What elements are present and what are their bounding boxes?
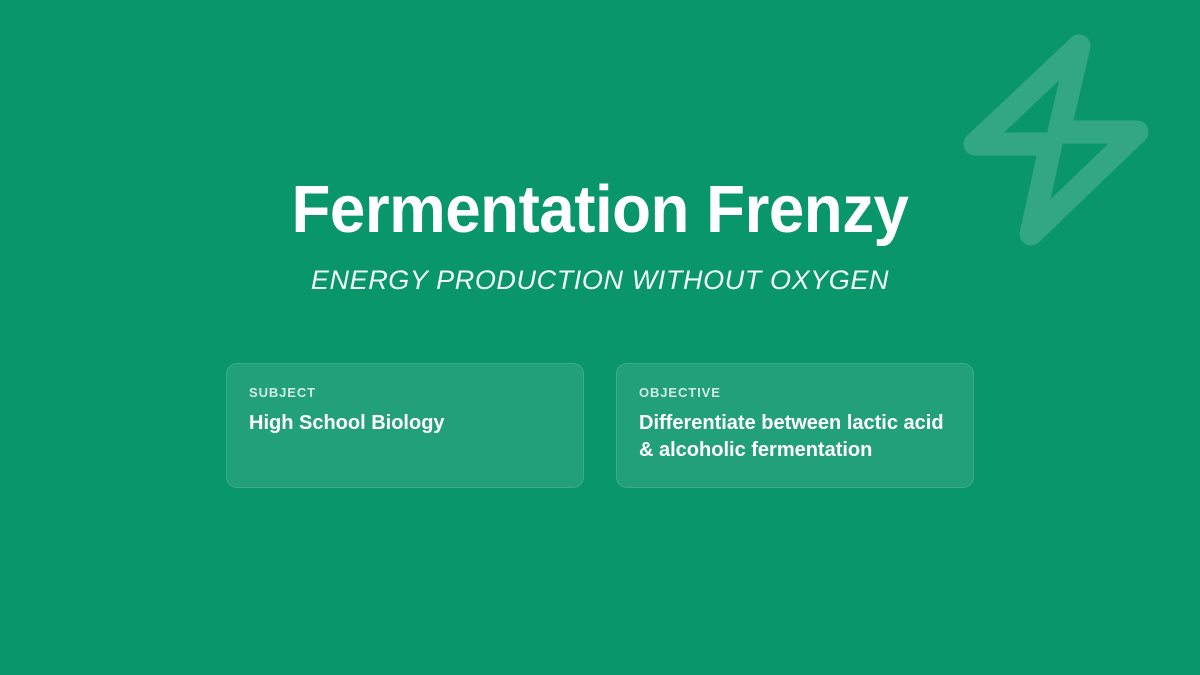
meta-card-objective: OBJECTIVE Differentiate between lactic a… xyxy=(616,363,974,488)
title-slide: Fermentation Frenzy ENERGY PRODUCTION WI… xyxy=(0,0,1200,675)
slide-header: Fermentation Frenzy ENERGY PRODUCTION WI… xyxy=(0,176,1200,296)
meta-card-subject: SUBJECT High School Biology xyxy=(226,363,584,488)
page-title: Fermentation Frenzy xyxy=(30,176,1170,243)
meta-card-value: Differentiate between lactic acid & alco… xyxy=(639,410,951,464)
meta-card-label: SUBJECT xyxy=(249,386,561,400)
meta-card-label: OBJECTIVE xyxy=(639,386,951,400)
page-subtitle: ENERGY PRODUCTION WITHOUT OXYGEN xyxy=(0,265,1200,296)
meta-card-value: High School Biology xyxy=(249,410,561,437)
meta-card-list: SUBJECT High School Biology OBJECTIVE Di… xyxy=(226,363,974,488)
